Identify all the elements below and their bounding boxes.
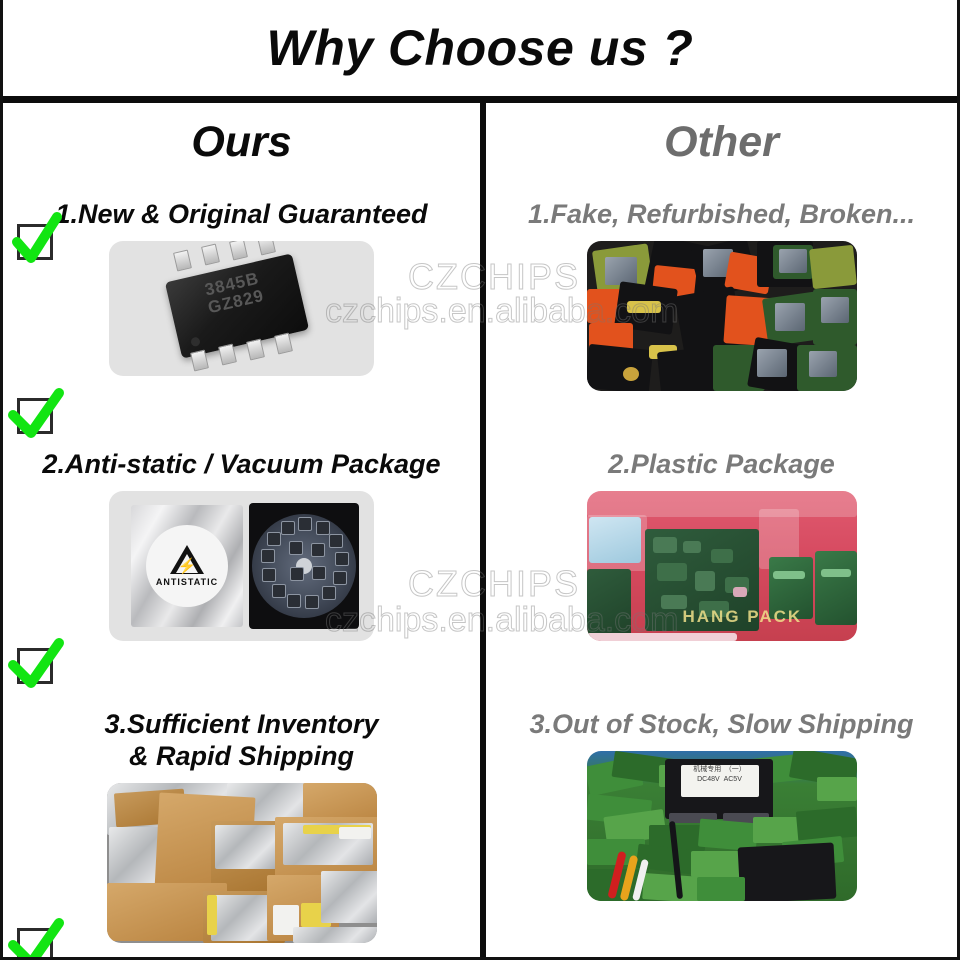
row-2-other: 2.Plastic Package	[486, 449, 957, 641]
green-check-icon-row-2	[9, 639, 61, 691]
row-3-other: 3.Out of Stock, Slow Shipping 机械专用 （一） D…	[486, 709, 957, 901]
antistatic-bag-and-reel-photo: ⚡ ANTISTATIC	[109, 491, 374, 641]
green-check-icon-row-3	[9, 919, 61, 960]
antistatic-label: ⚡ ANTISTATIC	[146, 525, 228, 607]
column-other: Other 1.Fake, Refurbished, Broken...	[480, 103, 957, 957]
bag-print-text: HANG PACK	[683, 607, 803, 627]
why-choose-us-infographic: Why Choose us ? Ours 1.New & Original Gu…	[0, 0, 960, 960]
green-check-icon-row-1	[9, 389, 61, 441]
page-title: Why Choose us ?	[267, 19, 694, 77]
title-bar: Why Choose us ?	[3, 0, 957, 96]
row-1-other-caption: 1.Fake, Refurbished, Broken...	[486, 199, 957, 231]
green-pcb-scrap-pile-photo: 机械专用 （一） DC48V AC5V	[587, 751, 857, 901]
header-divider-rule	[3, 96, 957, 103]
row-3-other-caption: 3.Out of Stock, Slow Shipping	[486, 709, 957, 741]
chip-marking: 3845B GZ829	[167, 261, 302, 325]
scrap-chips-pile-photo	[587, 241, 857, 391]
column-other-header: Other	[486, 103, 957, 181]
reel-tray	[249, 503, 359, 629]
column-other-label: Other	[664, 118, 779, 167]
antistatic-bag: ⚡ ANTISTATIC	[131, 505, 243, 627]
row-2-ours-caption: 2.Anti-static / Vacuum Package	[3, 449, 480, 481]
row-1-other: 1.Fake, Refurbished, Broken...	[486, 199, 957, 391]
column-ours-header: Ours	[3, 103, 480, 181]
sop8-chip-photo: 3845B GZ829	[109, 241, 374, 376]
row-3-ours-caption: 3.Sufficient Inventory & Rapid Shipping	[3, 709, 480, 773]
antistatic-text: ANTISTATIC	[156, 577, 218, 587]
row-2-ours: 2.Anti-static / Vacuum Package ⚡ ANTISTA…	[3, 449, 480, 641]
chip-pin1-dot	[190, 336, 201, 347]
column-ours: Ours 1.New & Original Guaranteed 3845B G…	[3, 103, 480, 957]
lightning-bolt-glyph: ⚡	[178, 559, 197, 574]
module-label-line: 机械专用 （一）	[681, 765, 759, 776]
comparison-columns: Ours 1.New & Original Guaranteed 3845B G…	[3, 103, 957, 957]
row-1-ours-caption: 1.New & Original Guaranteed	[3, 199, 480, 231]
pink-plastic-bag-pcb-photo: HANG PACK	[587, 491, 857, 641]
warehouse-boxes-photo	[107, 783, 377, 943]
module-label-line2: DC48V AC5V	[681, 775, 759, 786]
column-ours-label: Ours	[191, 118, 291, 167]
row-3-ours: 3.Sufficient Inventory & Rapid Shipping	[3, 709, 480, 943]
green-check-icon-header	[9, 215, 61, 267]
row-2-other-caption: 2.Plastic Package	[486, 449, 957, 481]
row-1-ours: 1.New & Original Guaranteed 3845B GZ829	[3, 199, 480, 376]
